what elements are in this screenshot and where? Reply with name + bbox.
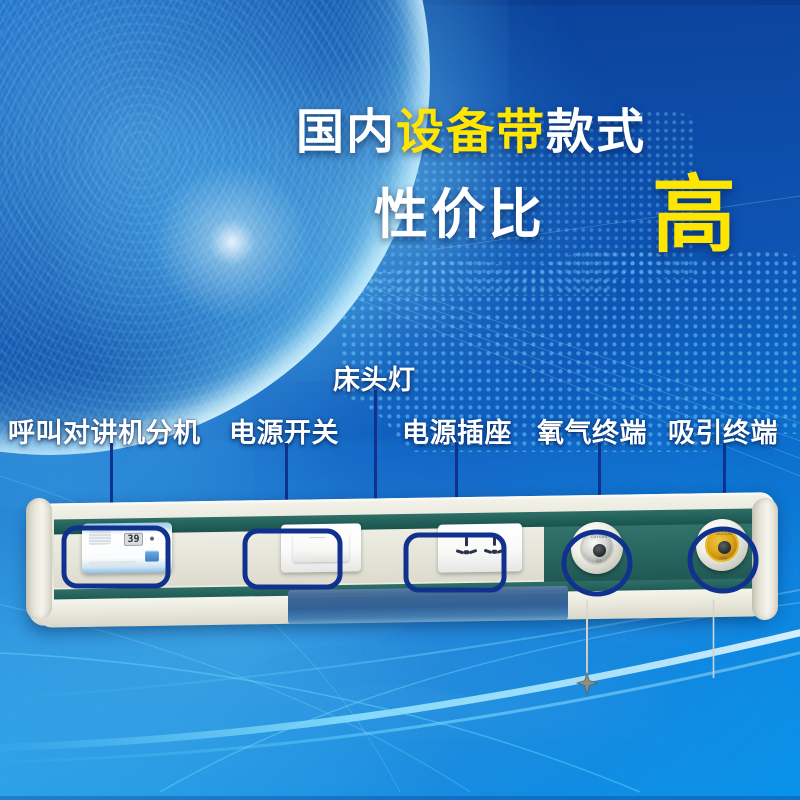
bed-head-unit: 39: [28, 498, 776, 630]
power-socket[interactable]: [438, 523, 522, 572]
socket-pin-icon: [493, 537, 496, 546]
oxygen-face-text-top: OXYGEN: [582, 535, 616, 540]
socket-pin-icon: [484, 549, 493, 554]
socket-pin-icon: [456, 549, 465, 554]
headline-seg-3: 款式: [546, 104, 646, 160]
power-switch[interactable]: [281, 523, 361, 572]
suction-face-text-top: VACUUM: [707, 532, 741, 537]
socket-outlet-left[interactable]: [454, 537, 480, 559]
unit-end-cap-right: [752, 498, 778, 620]
intercom-call-button[interactable]: [145, 550, 159, 561]
callout-label-intercom: 呼叫对讲机分机: [8, 411, 201, 450]
poster-canvas: 国内设备带款式 性价比 高 呼叫对讲机分机 电源开关 床头灯 电源插座 氧气终端…: [0, 0, 800, 800]
unit-end-cap-left: [26, 498, 52, 620]
headline-seg-1: 国内: [296, 104, 396, 160]
headline-line-2: 性价比: [374, 170, 545, 249]
socket-pin-icon: [465, 537, 468, 546]
headline-seg-2: 设备带: [396, 104, 546, 160]
headline-emphasis-gao: 高: [652, 148, 736, 269]
suction-hose-line: [712, 600, 715, 678]
socket-pin-icon: [497, 548, 506, 553]
suction-face-text-bottom: VAC: [707, 556, 741, 561]
intercom-display: 39: [124, 533, 143, 546]
status-led-icon: [150, 537, 154, 541]
oxygen-terminal-face[interactable]: OXYGEN O2: [580, 531, 614, 566]
suction-port-hole[interactable]: [718, 541, 731, 554]
callout-label-oxygen: 氧气终端: [537, 411, 647, 450]
bottom-edge-band: [0, 796, 800, 800]
headline-line-1: 国内设备带款式: [296, 92, 646, 162]
pull-cord[interactable]: [586, 600, 588, 678]
bed-lamp-diffuser[interactable]: [288, 586, 568, 624]
pull-cord-grip-icon[interactable]: [575, 672, 599, 696]
intercom-slot: [89, 561, 137, 566]
suction-terminal-face[interactable]: VACUUM VAC: [705, 528, 739, 563]
socket-pin-icon: [469, 549, 478, 554]
socket-outlet-right[interactable]: [482, 537, 508, 559]
speaker-grille-icon: [89, 531, 111, 544]
oxygen-face-text-bottom: O2: [582, 559, 616, 564]
callout-label-switch: 电源开关: [229, 411, 339, 450]
oxygen-port-hole[interactable]: [593, 544, 606, 557]
nurse-call-intercom[interactable]: 39: [82, 522, 172, 573]
